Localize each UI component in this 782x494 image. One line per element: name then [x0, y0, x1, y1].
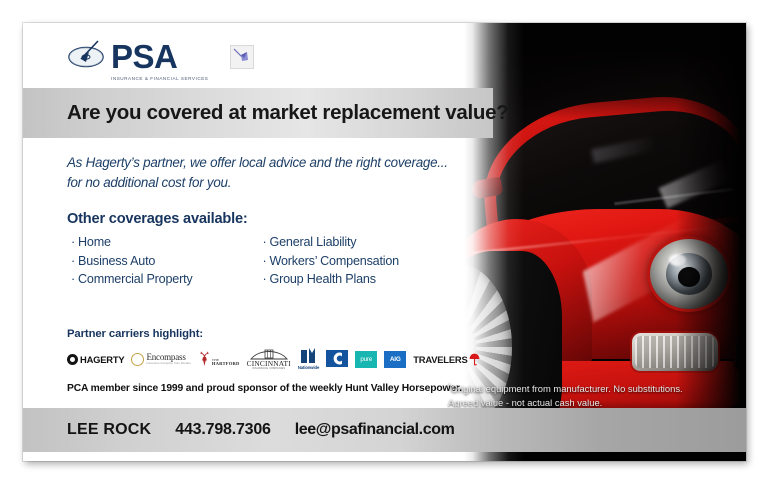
brand-logo: PSA INSURANCE & FINANCIAL SERVICES	[67, 39, 254, 81]
carrier-logo-aig: AIG	[384, 351, 406, 368]
carrier-logo-hagerty: HAGERTY	[67, 354, 124, 365]
headline-text: Are you covered at market replacement va…	[67, 101, 508, 124]
agent-phone[interactable]: 443.798.7306	[175, 421, 270, 439]
carrier-logo-nationwide: Nationwide	[298, 348, 319, 370]
hagerty-mark-icon	[67, 354, 78, 365]
carrier-name: pure	[360, 356, 372, 363]
coverage-label: Home	[78, 235, 111, 249]
carrier-logo-hartford: THE HARTFORD	[198, 351, 240, 367]
agent-email[interactable]: lee@psafinancial.com	[295, 421, 455, 439]
carrier-name: AIG	[390, 356, 401, 363]
bullet-icon: ·	[262, 272, 266, 286]
coverage-item: ·Commercial Property	[71, 272, 192, 286]
bullet-icon: ·	[71, 235, 75, 249]
psa-name: PSA	[111, 40, 208, 73]
disclaimer-line-1: *Original equipment from manufacturer. N…	[448, 382, 728, 397]
carrier-name: CINCINNATI	[247, 360, 291, 367]
travelers-umbrella-icon	[469, 353, 480, 366]
carrier-logo-encompass: Encompass Insurance Company from Allstat…	[131, 353, 190, 366]
contact-info: LEE ROCK 443.798.7306 lee@psafinancial.c…	[67, 421, 454, 439]
psa-wordmark: PSA INSURANCE & FINANCIAL SERVICES	[111, 39, 208, 81]
psa-swoosh-icon	[67, 39, 109, 69]
carrier-name: HAGERTY	[80, 354, 124, 365]
carrier-logo-pure: pure	[355, 351, 377, 368]
chubb-mark-icon	[326, 350, 348, 367]
coverage-item: ·Business Auto	[71, 254, 192, 268]
ad-content: PSA INSURANCE & FINANCIAL SERVICES Are y…	[23, 23, 493, 461]
coverage-label: Workers’ Compensation	[269, 254, 399, 268]
coverage-item: ·Group Health Plans	[262, 272, 399, 286]
advertisement-page: PSA INSURANCE & FINANCIAL SERVICES Are y…	[0, 0, 782, 494]
carrier-name: Encompass	[146, 353, 190, 362]
legal-disclaimer: *Original equipment from manufacturer. N…	[448, 382, 728, 411]
coverage-label: Business Auto	[78, 254, 155, 268]
bullet-icon: ·	[71, 254, 75, 268]
secondary-badge-icon	[230, 45, 254, 69]
psa-logo-lockup: PSA INSURANCE & FINANCIAL SERVICES	[67, 39, 208, 81]
bullet-icon: ·	[71, 272, 75, 286]
carrier-logo-cincinnati: CINCINNATI INSURANCE COMPANIES	[247, 347, 291, 371]
coverage-item: ·Workers’ Compensation	[262, 254, 399, 268]
coverage-item: ·Home	[71, 235, 192, 249]
coverages-title: Other coverages available:	[67, 211, 248, 227]
carrier-subtitle: INSURANCE COMPANIES	[252, 368, 285, 371]
bullet-icon: ·	[262, 254, 266, 268]
bullet-icon: ·	[262, 235, 266, 249]
ad-card: PSA INSURANCE & FINANCIAL SERVICES Are y…	[23, 23, 746, 461]
headline-band: Are you covered at market replacement va…	[23, 88, 493, 138]
agent-name: LEE ROCK	[67, 421, 151, 439]
carrier-logo-travelers: TRAVELERS	[413, 353, 479, 366]
membership-note: PCA member since 1999 and proud sponsor …	[67, 383, 462, 394]
carrier-name: HARTFORD	[212, 362, 240, 367]
headline-asterisk: *	[508, 102, 512, 114]
coverage-label: General Liability	[269, 235, 356, 249]
psa-tagline: INSURANCE & FINANCIAL SERVICES	[111, 76, 208, 81]
coverage-item: ·General Liability	[262, 235, 399, 249]
coverages-column-right: ·General Liability ·Workers’ Compensatio…	[262, 235, 399, 286]
coverage-label: Group Health Plans	[269, 272, 375, 286]
hartford-stag-icon	[198, 351, 211, 367]
carrier-name: TRAVELERS	[413, 354, 467, 365]
coverages-column-left: ·Home ·Business Auto ·Commercial Propert…	[71, 235, 192, 286]
value-proposition-line-2: for no additional cost for you.	[67, 173, 448, 193]
coverage-label: Commercial Property	[78, 272, 192, 286]
carrier-logo-strip: HAGERTY Encompass Insurance Company from…	[67, 346, 467, 372]
carrier-name: Nationwide	[298, 366, 319, 370]
headline: Are you covered at market replacement va…	[67, 101, 512, 125]
value-proposition: As Hagerty’s partner, we offer local adv…	[67, 153, 448, 193]
carrier-subtitle: Insurance Company from Allstate	[146, 363, 190, 366]
contact-band: LEE ROCK 443.798.7306 lee@psafinancial.c…	[23, 408, 746, 452]
value-proposition-line-1: As Hagerty’s partner, we offer local adv…	[67, 153, 448, 173]
carriers-title: Partner carriers highlight:	[67, 328, 203, 340]
coverages-columns: ·Home ·Business Auto ·Commercial Propert…	[71, 235, 399, 286]
disclaimer-text-1: Original equipment from manufacturer. No…	[451, 383, 683, 394]
encompass-ring-icon	[131, 353, 144, 366]
nationwide-eagle-icon	[300, 348, 317, 364]
carrier-logo-chubb	[326, 350, 348, 369]
